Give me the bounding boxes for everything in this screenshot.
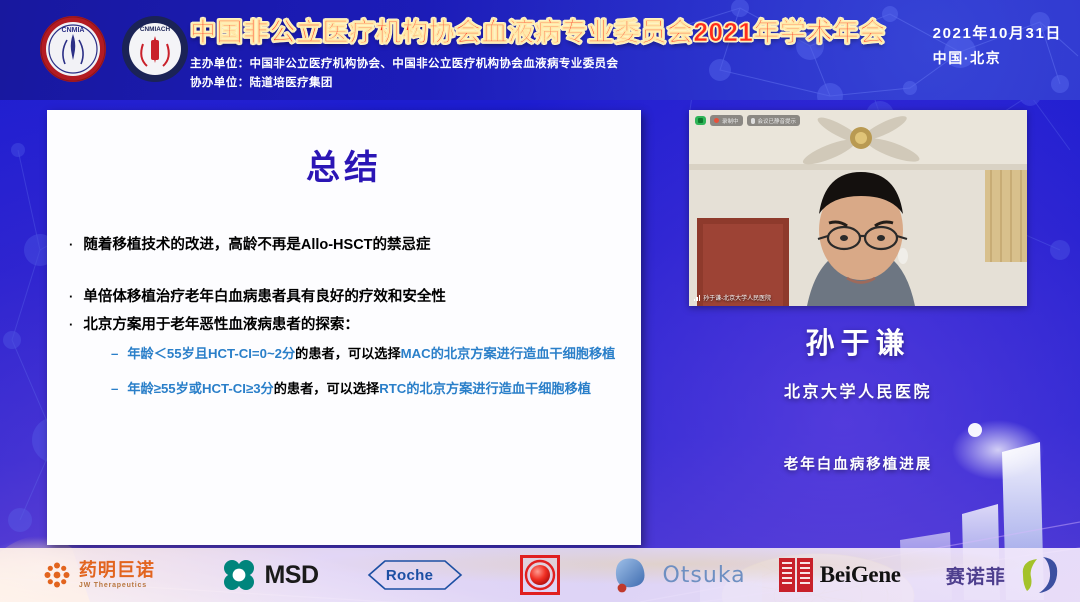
speaker-organization: 北京大学人民医院: [689, 378, 1027, 402]
jw-therapeutics-icon: [42, 560, 72, 590]
co-organizer-line: 协办单位：陆道培医疗集团: [190, 74, 886, 90]
sponsor-label-en: JW Therapeutics: [79, 582, 147, 589]
slide-sub-bullet: – 年龄≥55岁或HCT-CI≥3分的患者，可以选择RTC的北京方案进行造血干细…: [111, 379, 641, 400]
video-frame-image: [689, 110, 1027, 306]
signal-strength-icon: [694, 295, 700, 301]
slide-bullet: · 单倍体移植治疗老年白血病患者具有良好的疗效和安全性: [69, 287, 641, 309]
sponsor-label: MSD: [264, 561, 318, 590]
otsuka-icon: [613, 555, 655, 595]
presentation-slide[interactable]: 总结 · 随着移植技术的改进，高龄不再是Allo-HSCT的禁忌症 · 单倍体移…: [47, 110, 641, 545]
bullet-marker: ·: [69, 235, 73, 257]
sponsor-label: 赛诺菲: [946, 562, 1006, 589]
sponsor-bar: 药明巨诺 JW Therapeutics MSD Roche: [0, 548, 1080, 602]
sub-bullet-marker: –: [111, 344, 118, 365]
livestream-stage: CNMIA CNMIACH 中国非公立医疗机构协会血液病专业委员会2021年学术…: [0, 0, 1080, 602]
slide-bullet: · 北京方案用于老年恶性血液病患者的探索：: [69, 315, 641, 337]
beigene-seal-icon: [779, 558, 813, 592]
cnmia-emblem: CNMIA: [37, 10, 109, 88]
sponsor-otsuka[interactable]: Otsuka: [604, 548, 755, 602]
live-dot-icon: [714, 118, 719, 123]
slide-title: 总结: [47, 140, 641, 189]
sub-bullet-marker: –: [111, 379, 118, 400]
sponsor-label: Roche: [386, 567, 433, 584]
svg-text:CNMIACH: CNMIACH: [140, 26, 171, 33]
slide-sub-bullet: – 年龄＜55岁且HCT-CI=0~2分的患者，可以选择MAC的北京方案进行造血…: [111, 344, 641, 365]
event-location: 中国·北京: [933, 48, 1062, 68]
sponsor-sanofi[interactable]: 赛诺菲: [924, 548, 1080, 602]
sub-bullet-part-regimen: MAC的北京方案进行造血干细胞移植: [401, 346, 616, 361]
sponsor-beigene[interactable]: BeiGene: [755, 548, 924, 602]
participant-name: 孙于谦-北京大学人民医院: [703, 293, 771, 302]
organizer-line: 主办单位：中国非公立医疗机构协会、中国非公立医疗机构协会血液病专业委员会: [190, 55, 886, 71]
event-date: 2021年10月31日: [933, 22, 1062, 43]
cnmiach-emblem: CNMIACH: [119, 10, 191, 88]
speaker-video-tile[interactable]: 录制中 会议已静音提示 孙于谦-北京大学人民医院: [689, 110, 1027, 306]
sponsor-roche[interactable]: Roche: [343, 548, 476, 602]
sponsor-label: Otsuka: [662, 563, 745, 588]
sub-bullet-text: 年龄＜55岁且HCT-CI=0~2分的患者，可以选择MAC的北京方案进行造血干细…: [127, 344, 615, 365]
microphone-icon: [751, 118, 755, 124]
record-square-icon: [698, 118, 703, 123]
sanofi-icon: [1013, 555, 1059, 595]
video-participant-label: 孙于谦-北京大学人民医院: [694, 293, 771, 302]
sponsor-msd[interactable]: MSD: [197, 548, 343, 602]
association-emblems: CNMIA CNMIACH: [37, 10, 191, 88]
header-title-block: 中国非公立医疗机构协会血液病专业委员会2021年学术年会 主办单位：中国非公立医…: [190, 12, 886, 90]
sponsor-takeda[interactable]: [476, 548, 604, 602]
event-title: 中国非公立医疗机构协会血液病专业委员会2021年学术年会: [190, 12, 886, 49]
bullet-marker: ·: [69, 315, 73, 337]
sub-bullet-part-criteria: 年龄≥55岁或HCT-CI≥3分: [127, 381, 273, 396]
sponsor-label: BeiGene: [820, 562, 901, 588]
live-badge[interactable]: 录制中: [710, 115, 743, 126]
sub-bullet-part-regimen: RTC的北京方案进行造血干细胞移植: [379, 381, 591, 396]
video-status-badges: 录制中 会议已静音提示: [695, 115, 800, 126]
mute-badge[interactable]: 会议已静音提示: [747, 115, 801, 126]
slide-bullet-list: · 随着移植技术的改进，高龄不再是Allo-HSCT的禁忌症 · 单倍体移植治疗…: [69, 235, 641, 400]
bullet-text: 北京方案用于老年恶性血液病患者的探索：: [83, 315, 359, 337]
event-header: CNMIA CNMIACH 中国非公立医疗机构协会血液病专业委员会2021年学术…: [0, 0, 1080, 100]
sub-bullet-part-middle: 的患者，可以选择: [274, 381, 380, 396]
sub-bullet-part-criteria: 年龄＜55岁且HCT-CI=0~2分: [127, 346, 295, 361]
slide-bullet: · 随着移植技术的改进，高龄不再是Allo-HSCT的禁忌症: [69, 235, 641, 257]
msd-icon: [221, 557, 257, 593]
bullet-text: 随着移植技术的改进，高龄不再是Allo-HSCT的禁忌症: [83, 235, 430, 257]
live-badge-label: 录制中: [722, 117, 739, 125]
speaker-name: 孙于谦: [689, 320, 1027, 362]
sponsor-jw-therapeutics[interactable]: 药明巨诺 JW Therapeutics: [0, 548, 197, 602]
sub-bullet-text: 年龄≥55岁或HCT-CI≥3分的患者，可以选择RTC的北京方案进行造血干细胞移…: [127, 379, 591, 400]
speaker-info-panel: 孙于谦 北京大学人民医院 老年白血病移植进展: [689, 320, 1027, 474]
recording-badge[interactable]: [695, 116, 706, 125]
sponsor-label-cn: 药明巨诺: [79, 561, 155, 579]
bullet-text: 单倍体移植治疗老年白血病患者具有良好的疗效和安全性: [83, 287, 446, 309]
speaker-topic: 老年白血病移植进展: [689, 453, 1027, 474]
takeda-icon: [520, 555, 560, 595]
svg-text:CNMIA: CNMIA: [62, 27, 85, 34]
slide-sub-bullet-list: – 年龄＜55岁且HCT-CI=0~2分的患者，可以选择MAC的北京方案进行造血…: [111, 344, 641, 400]
mute-badge-label: 会议已静音提示: [758, 117, 797, 125]
sub-bullet-part-middle: 的患者，可以选择: [295, 346, 401, 361]
bullet-marker: ·: [69, 287, 73, 309]
event-date-block: 2021年10月31日 中国·北京: [933, 22, 1062, 68]
